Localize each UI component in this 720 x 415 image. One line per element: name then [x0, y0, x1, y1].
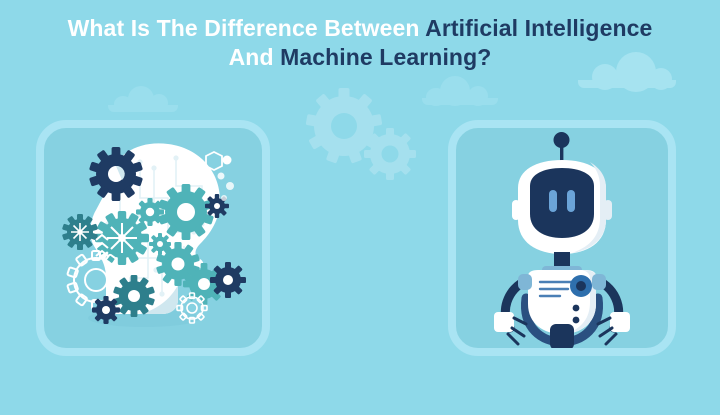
title-line-1: What Is The Difference Between Artificia…: [68, 15, 653, 41]
gear-navy-right-outer: [210, 262, 246, 298]
hexagon-accent: [206, 152, 222, 170]
page-title: What Is The Difference Between Artificia…: [0, 14, 720, 72]
ai-head-svg: [44, 128, 262, 348]
cloud-mid: [422, 76, 498, 105]
cloud-left: [108, 86, 178, 112]
robot-base: [550, 324, 574, 348]
center-gears: [300, 84, 422, 186]
title-line-2: And Machine Learning?: [229, 44, 492, 70]
dot-accents: [218, 156, 235, 202]
title-plain-2: And: [229, 44, 281, 70]
gear-outline-small: [177, 293, 207, 323]
panel-artificial-intelligence: [36, 120, 270, 356]
robot-head: [512, 160, 612, 254]
infographic-canvas: What Is The Difference Between Artificia…: [0, 0, 720, 415]
panel-machine-learning: [448, 120, 676, 356]
title-accent-1: Artificial Intelligence: [425, 15, 652, 41]
gear-navy-bottom: [92, 296, 120, 324]
robot-svg: [456, 128, 668, 348]
robot-illustration: [456, 128, 668, 348]
robot-eye-left: [549, 190, 557, 212]
title-plain-1: What Is The Difference Between: [68, 15, 426, 41]
robot-eye-right: [567, 190, 575, 212]
gear-teal-small-mid: [136, 198, 164, 226]
title-accent-2: Machine Learning?: [280, 44, 491, 70]
ai-head-illustration: [44, 128, 262, 348]
